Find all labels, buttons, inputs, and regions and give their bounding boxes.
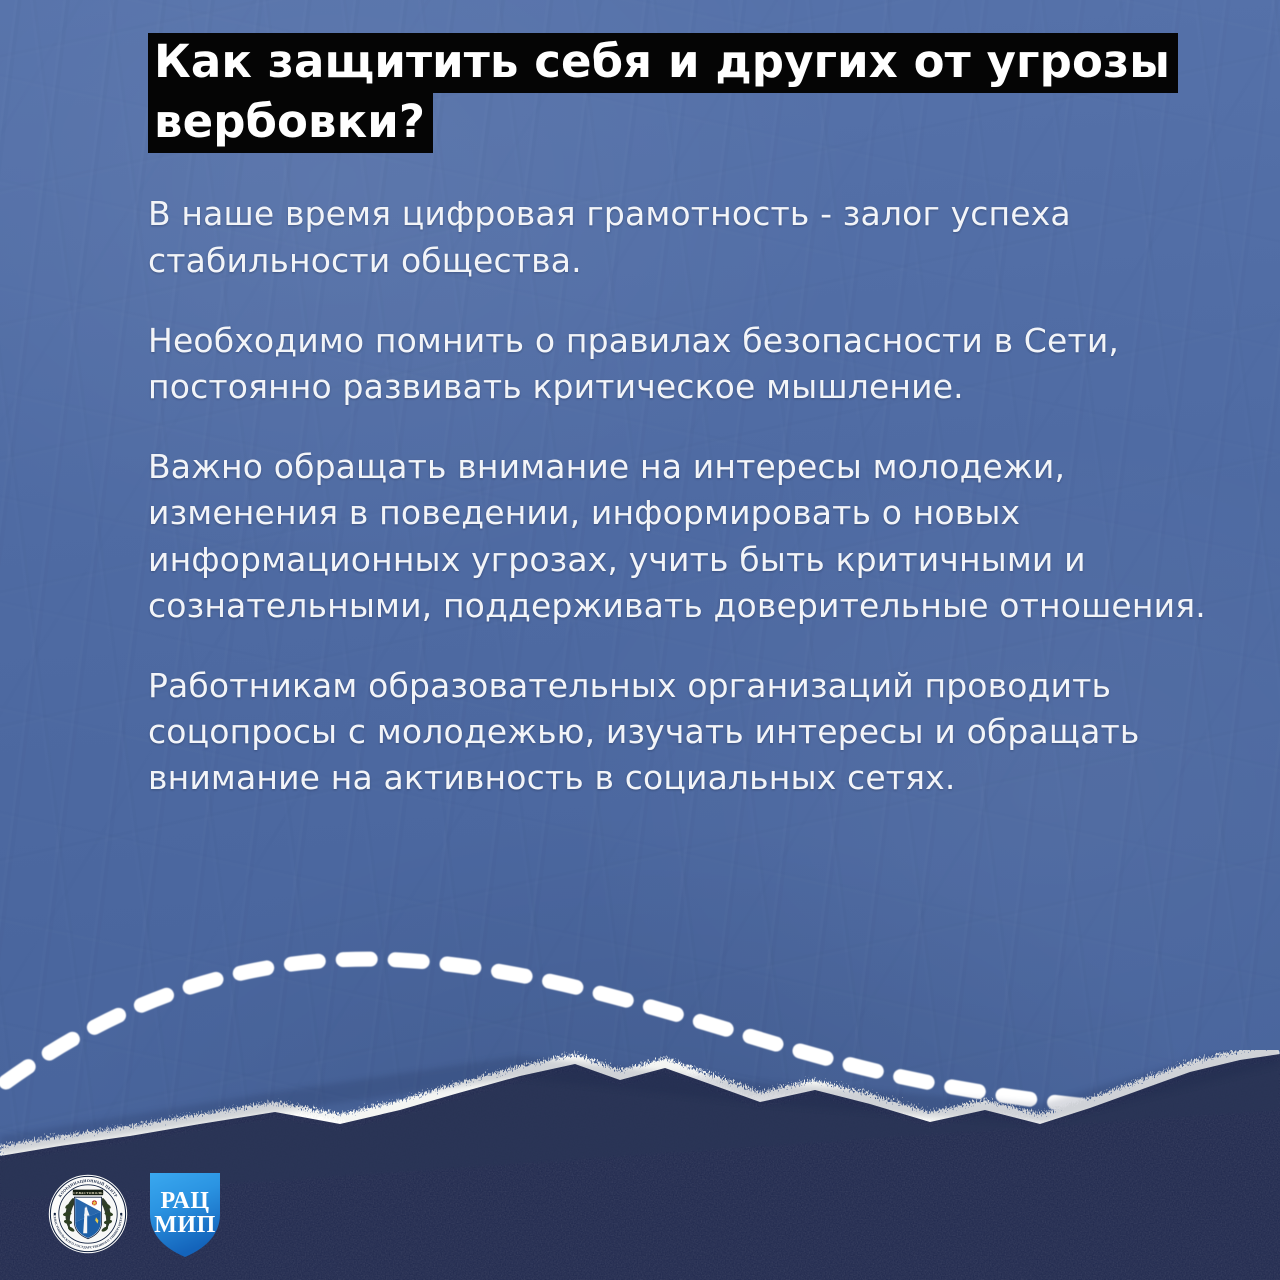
page-title-line-2: вербовки? xyxy=(148,93,433,153)
seal-dot-left xyxy=(54,1213,56,1215)
page-title: Как защитить себя и других от угрозы вер… xyxy=(148,33,1218,153)
seal-dot-right xyxy=(120,1213,122,1215)
sevgu-coordination-center-seal: КООРДИНАЦИОННЫЙ ЦЕНТР СЕВАСТОПОЛЬСКОГО Г… xyxy=(48,1174,128,1254)
shield-label-line1: РАЦ xyxy=(160,1188,209,1214)
shield-label-line2: МИП xyxy=(154,1212,216,1238)
paragraph-4: Работникам образовательных организаций п… xyxy=(148,663,1210,802)
logo-group: КООРДИНАЦИОННЫЙ ЦЕНТР СЕВАСТОПОЛЬСКОГО Г… xyxy=(48,1168,224,1260)
paragraph-1: В наше время цифровая грамотность - зало… xyxy=(148,191,1210,283)
paragraph-3: Важно обращать внимание на интересы моло… xyxy=(148,444,1210,629)
page-title-line-1: Как защитить себя и других от угрозы xyxy=(148,33,1178,93)
rac-mip-shield-logo: РАЦ МИП xyxy=(146,1168,224,1260)
seal-banner-text: СЕВАСТОПОЛЬ xyxy=(73,1191,103,1195)
paragraph-2: Необходимо помнить о правилах безопаснос… xyxy=(148,318,1210,410)
seal-heraldic-shield xyxy=(74,1197,101,1239)
poster-content: Как защитить себя и других от угрозы вер… xyxy=(148,33,1218,801)
seal-banner: СЕВАСТОПОЛЬ xyxy=(73,1190,103,1196)
poster-canvas: Как защитить себя и других от угрозы вер… xyxy=(0,0,1280,1280)
